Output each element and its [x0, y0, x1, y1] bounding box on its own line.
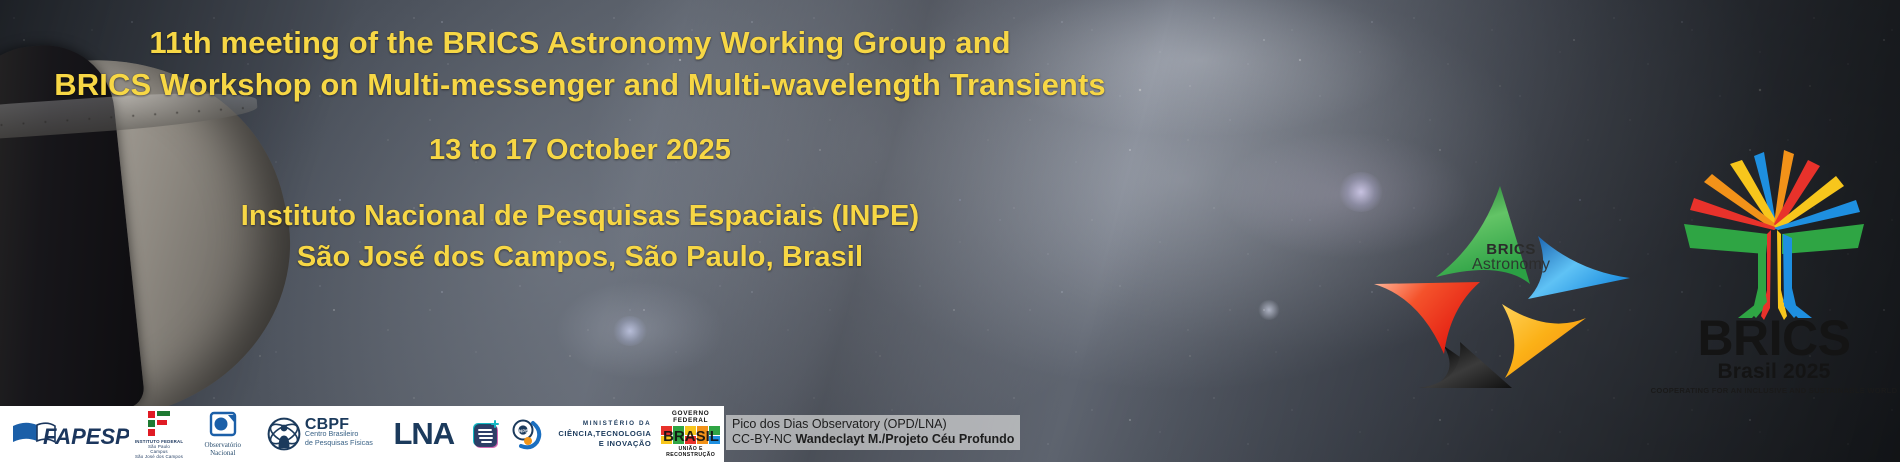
lna-label: LNA — [393, 416, 454, 452]
sponsor-ifsp[interactable]: INSTITUTO FEDERAL São Paulo Campus São J… — [132, 406, 187, 462]
spacer — [0, 170, 1160, 196]
conference-dates: 13 to 17 October 2025 — [0, 130, 1160, 170]
gov-federal-sub: UNIÃO E RECONSTRUÇÃO — [657, 446, 724, 458]
sponsor-cbpf[interactable]: CBPF Centro Brasileiro de Pesquisas Físi… — [259, 406, 381, 462]
svg-text:FAPESP: FAPESP — [43, 424, 129, 449]
sponsor-governo-federal[interactable]: GOVERNO FEDERAL BRASIL UNIÃO E RECONSTRU… — [657, 406, 724, 462]
photo-credit-license: CC-BY-NC — [732, 432, 792, 446]
photo-credit: Pico dos Dias Observatory (OPD/LNA) CC-B… — [726, 415, 1020, 450]
brasil-wordmark-icon: BRASIL — [660, 424, 722, 446]
brics-astronomy-logo: BRICS Astronomy — [1372, 138, 1644, 388]
photo-credit-line-1: Pico dos Dias Observatory (OPD/LNA) — [732, 417, 1014, 432]
svg-text:BRASIL: BRASIL — [663, 428, 719, 445]
mcti-sub1: CIÊNCIA,TECNOLOGIA — [558, 429, 651, 439]
gov-federal-text: GOVERNO FEDERAL — [657, 410, 724, 424]
conference-banner: 11th meeting of the BRICS Astronomy Work… — [0, 0, 1900, 462]
inpe-label: INPE — [517, 429, 528, 434]
banner-text-block: 11th meeting of the BRICS Astronomy Work… — [0, 0, 1160, 278]
brasil-logo-word: BRICS — [1648, 316, 1900, 360]
gov-federal-sub2: UNIÃO E RECONSTRUÇÃO — [657, 446, 724, 458]
cbpf-sub2: de Pesquisas Físicas — [305, 438, 373, 447]
mcti-text: MINISTÉRIO DA CIÊNCIA,TECNOLOGIA E INOVA… — [558, 419, 651, 449]
gov-federal-label: GOVERNO FEDERAL — [657, 410, 724, 424]
sponsor-mcti[interactable]: MINISTÉRIO DA CIÊNCIA,TECNOLOGIA E INOVA… — [549, 406, 657, 462]
on-label: Observatório — [204, 441, 241, 449]
on-sub1: Nacional — [210, 449, 235, 457]
photo-credit-author: Wandeclayt M./Projeto Céu Profundo — [795, 432, 1014, 446]
sponsor-capes[interactable] — [467, 406, 504, 462]
sponsor-lna[interactable]: LNA — [381, 406, 467, 462]
ifsp-sub3: São José dos Campos — [135, 454, 183, 459]
sponsor-fapesp[interactable]: FAPESP — [0, 406, 132, 462]
sponsor-observatorio-nacional[interactable]: Observatório Nacional — [186, 406, 259, 462]
brasil-logo-tagline: COOPERATING FOR AN INCLUSIVE AND SUSTAIN… — [1648, 386, 1900, 395]
sponsor-bar: FAPESP INSTITUTO FEDERAL São Paulo Campu… — [0, 406, 724, 462]
venue-line-1: Instituto Nacional de Pesquisas Espaciai… — [0, 196, 1160, 237]
mcti-sub2: E INOVAÇÃO — [558, 439, 651, 449]
mcti-label: MINISTÉRIO DA — [558, 419, 651, 429]
brasil-logo-subtitle: Brasil 2025 — [1648, 360, 1900, 384]
headline-line-2: BRICS Workshop on Multi-messenger and Mu… — [0, 64, 1160, 106]
sponsor-inpe[interactable]: INPE — [504, 406, 549, 462]
headline-line-1: 11th meeting of the BRICS Astronomy Work… — [0, 22, 1160, 64]
venue-line-2: São José dos Campos, São Paulo, Brasil — [0, 237, 1160, 278]
photo-credit-line-2: CC-BY-NC Wandeclayt M./Projeto Céu Profu… — [732, 432, 1014, 447]
spacer — [0, 106, 1160, 130]
brics-brasil-2025-logo: BRICS Brasil 2025 COOPERATING FOR AN INC… — [1648, 138, 1900, 388]
